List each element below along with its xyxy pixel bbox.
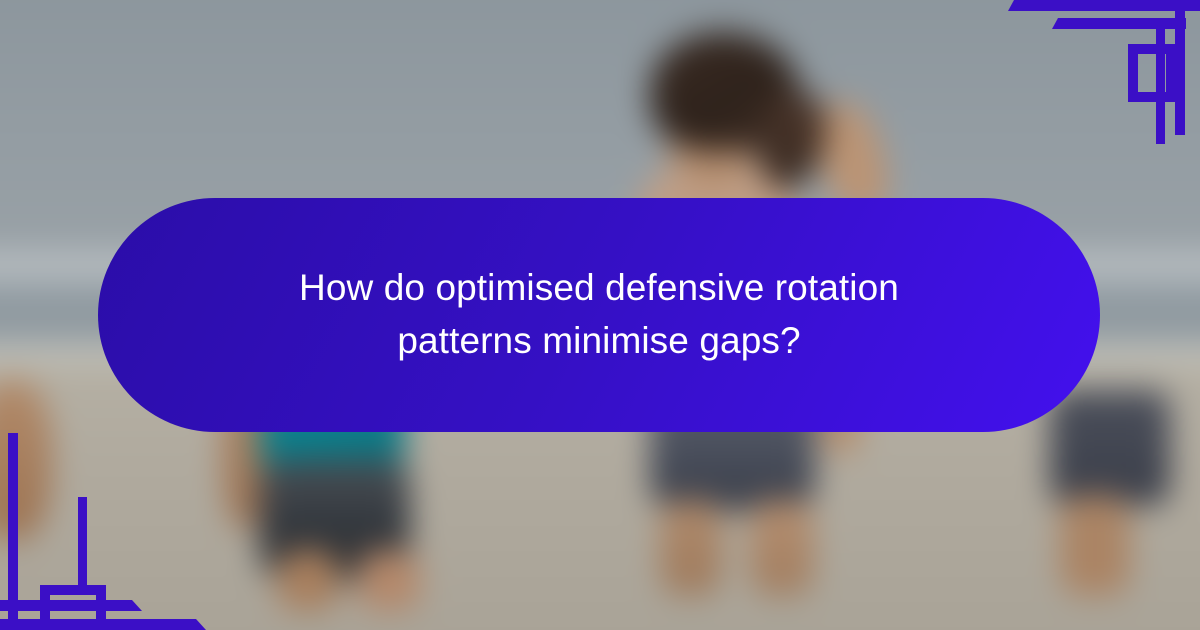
poster-canvas: How do optimised defensive rotation patt… bbox=[0, 0, 1200, 630]
figure-far-right-shorts bbox=[1050, 390, 1170, 505]
figure-right-leg-near bbox=[660, 500, 722, 595]
question-card: How do optimised defensive rotation patt… bbox=[98, 198, 1100, 432]
figure-far-right-leg bbox=[1060, 495, 1130, 595]
figure-right-leg-far bbox=[750, 500, 814, 595]
figure-left-leg-far bbox=[358, 550, 420, 610]
question-text: How do optimised defensive rotation patt… bbox=[269, 262, 929, 367]
figure-left-leg-near bbox=[278, 550, 338, 610]
